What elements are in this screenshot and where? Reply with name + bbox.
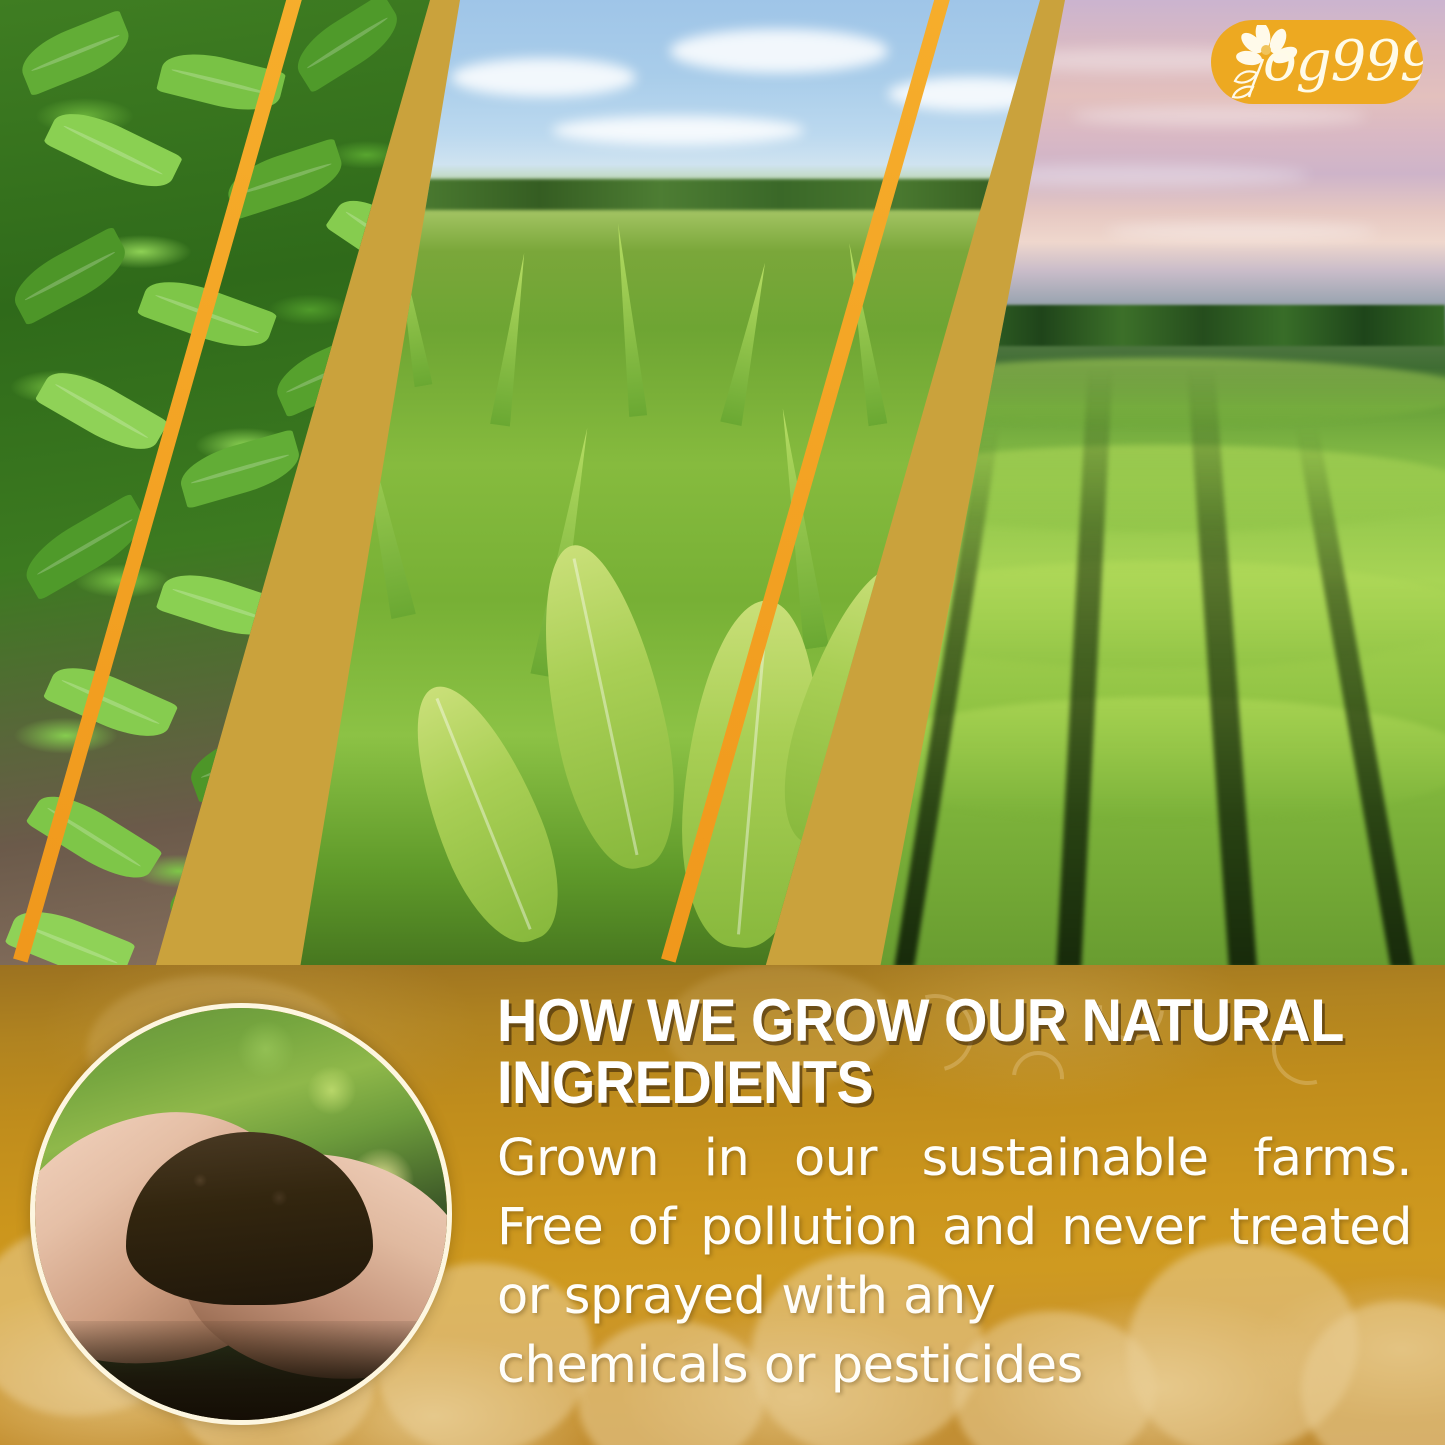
feature-body-text: Grown in our sustainable farms. Free of … bbox=[497, 1124, 1412, 1400]
body-line-4: chemicals or pesticides bbox=[497, 1331, 1412, 1400]
body-line-2: Free of pollution and never bbox=[497, 1198, 1205, 1257]
brand-logo-badge[interactable]: og999 bbox=[1211, 20, 1423, 104]
product-infographic-poster: og999 HOW WE GROW OUR NATURAL INGREDIENT… bbox=[0, 0, 1445, 1445]
brand-logo-text: og999 bbox=[1263, 27, 1423, 97]
feature-text-block: HOW WE GROW OUR NATURAL INGREDIENTS Grow… bbox=[497, 990, 1412, 1400]
photo-strip bbox=[0, 0, 1445, 968]
hands-holding-soil-image bbox=[30, 1003, 452, 1425]
feature-headline: HOW WE GROW OUR NATURAL INGREDIENTS bbox=[497, 990, 1348, 1114]
body-line-1: Grown in our sustainable farms. bbox=[497, 1129, 1412, 1188]
